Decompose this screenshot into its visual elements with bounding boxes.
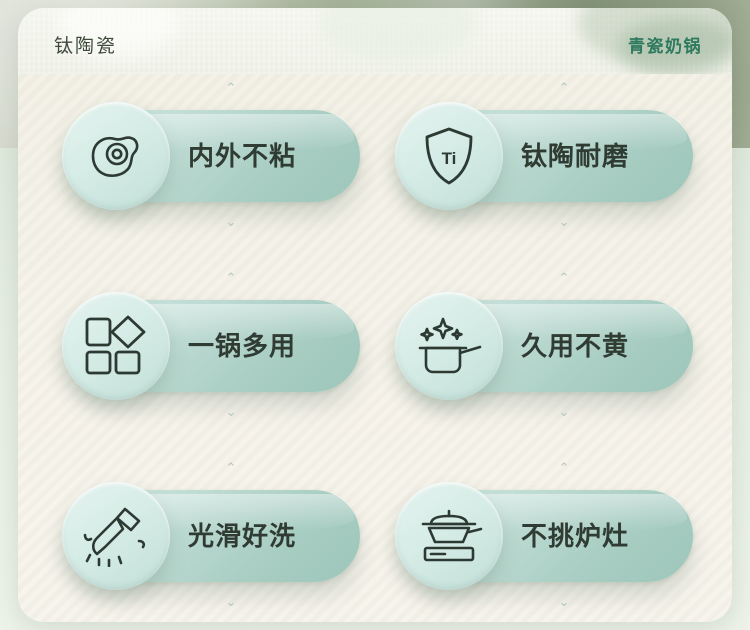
feature-label: 一锅多用	[188, 326, 296, 363]
feature-item[interactable]: ⌃ 一锅多用 ⌄	[70, 300, 360, 392]
cleaning-brush-icon	[62, 482, 170, 590]
feature-label: 光滑好洗	[188, 516, 296, 553]
pot-on-stove-icon	[395, 482, 503, 590]
feature-label: 不挑炉灶	[521, 516, 629, 553]
chevron-down-icon: ⌄	[220, 598, 242, 608]
promo-page: 钛陶瓷 青瓷奶锅 ⌃ 内外不粘 ⌄ ⌃	[0, 0, 750, 630]
chevron-down-icon: ⌄	[220, 218, 242, 228]
feature-grid: ⌃ 内外不粘 ⌄ ⌃ T	[18, 88, 732, 618]
feature-label: 内外不粘	[188, 136, 296, 173]
chevron-up-icon: ⌃	[553, 274, 575, 284]
titanium-shield-icon: Ti	[395, 102, 503, 210]
feature-item[interactable]: ⌃ 光滑好洗 ⌄	[70, 490, 360, 582]
feature-card: 钛陶瓷 青瓷奶锅 ⌃ 内外不粘 ⌄ ⌃	[18, 8, 732, 622]
sparkle-pot-icon	[395, 292, 503, 400]
card-header: 钛陶瓷 青瓷奶锅	[18, 8, 732, 74]
chevron-up-icon: ⌃	[220, 464, 242, 474]
fried-egg-pan-icon	[62, 102, 170, 210]
feature-item[interactable]: ⌃ 久用不黄 ⌄	[403, 300, 693, 392]
chevron-down-icon: ⌄	[553, 408, 575, 418]
header-title-left: 钛陶瓷	[54, 31, 117, 58]
feature-label: 钛陶耐磨	[521, 136, 629, 173]
feature-label: 久用不黄	[521, 326, 629, 363]
header-title-right: 青瓷奶锅	[628, 32, 702, 57]
chevron-up-icon: ⌃	[553, 84, 575, 94]
chevron-up-icon: ⌃	[553, 464, 575, 474]
chevron-up-icon: ⌃	[220, 274, 242, 284]
svg-text:Ti: Ti	[442, 149, 457, 168]
chevron-down-icon: ⌄	[220, 408, 242, 418]
chevron-up-icon: ⌃	[220, 84, 242, 94]
chevron-down-icon: ⌄	[553, 598, 575, 608]
feature-item[interactable]: ⌃ Ti 钛陶耐磨 ⌄	[403, 110, 693, 202]
multi-shapes-icon	[62, 292, 170, 400]
chevron-down-icon: ⌄	[553, 218, 575, 228]
feature-item[interactable]: ⌃ 内外不粘 ⌄	[70, 110, 360, 202]
feature-item[interactable]: ⌃ 不挑炉灶 ⌄	[403, 490, 693, 582]
